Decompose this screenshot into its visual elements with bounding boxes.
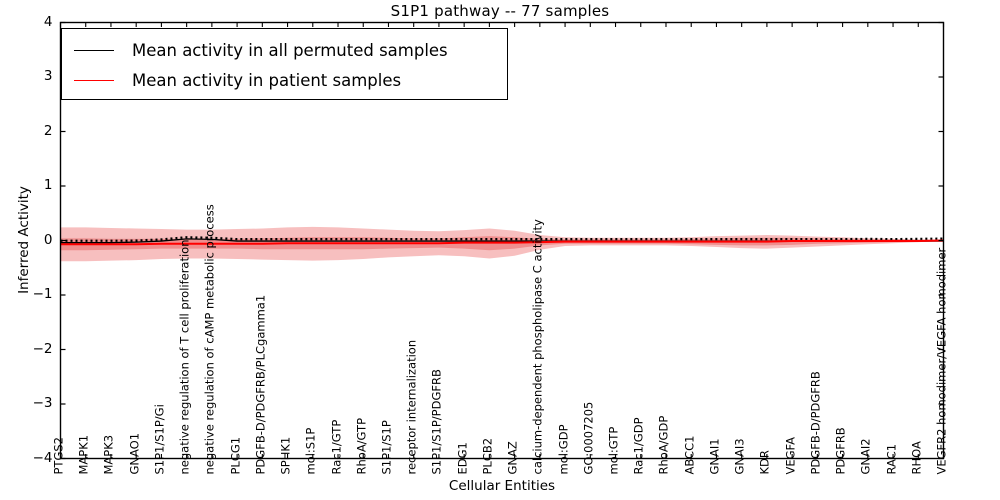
legend-entry-patient: Mean activity in patient samples xyxy=(74,65,401,95)
legend-entry-permuted: Mean activity in all permuted samples xyxy=(74,35,448,65)
legend: Mean activity in all permuted samples Me… xyxy=(61,28,508,100)
legend-label-permuted: Mean activity in all permuted samples xyxy=(132,41,448,60)
figure-canvas: S1P1 pathway -- 77 samples Inferred Acti… xyxy=(0,0,1000,500)
legend-swatch-permuted xyxy=(74,50,114,51)
legend-swatch-patient xyxy=(74,80,114,81)
legend-label-patient: Mean activity in patient samples xyxy=(132,71,401,90)
